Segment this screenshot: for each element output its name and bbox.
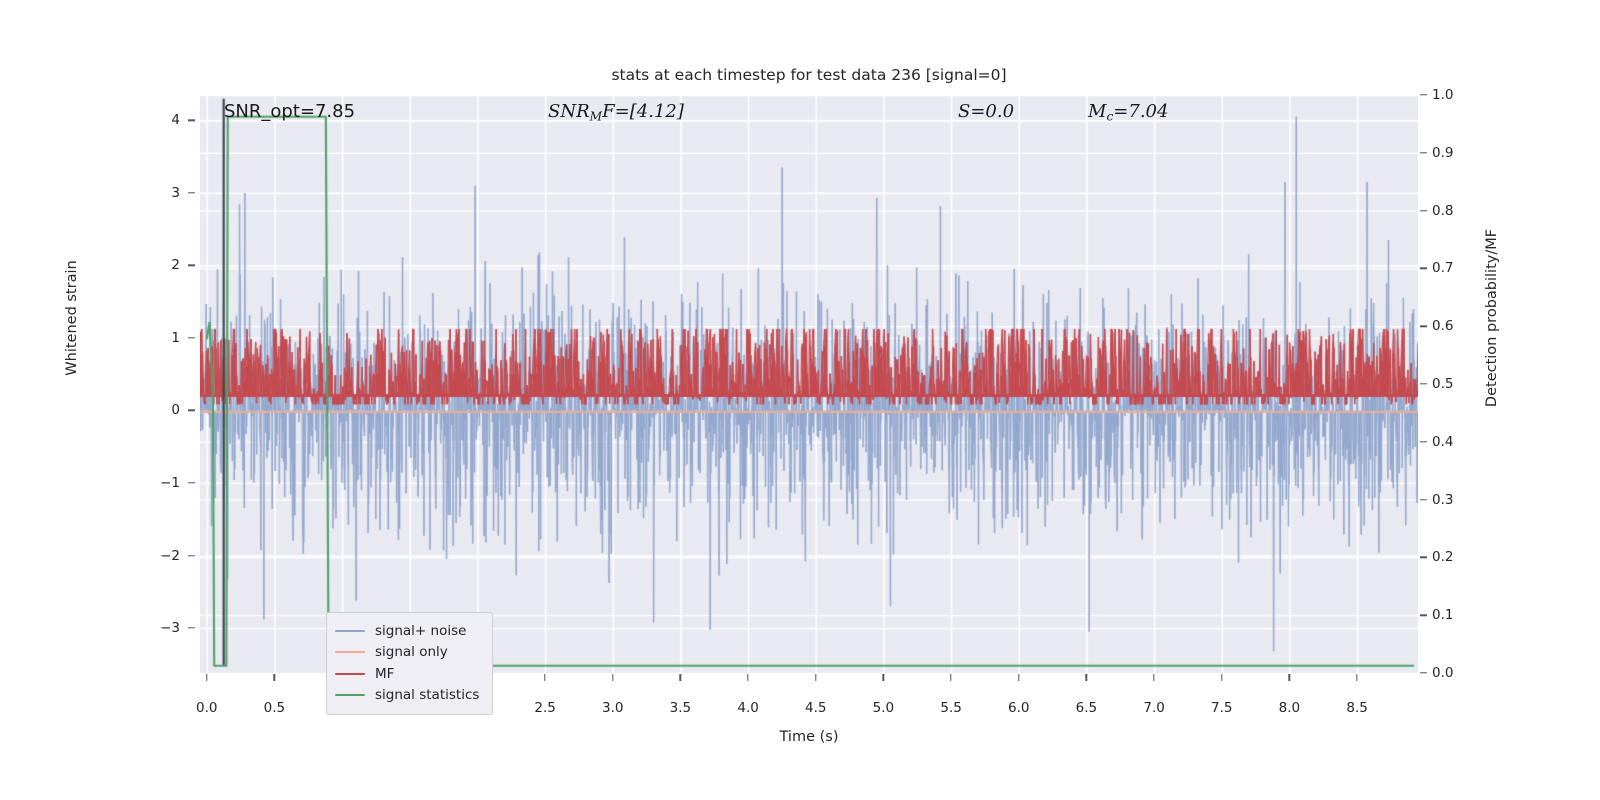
x-tick-mark (1086, 674, 1087, 681)
x-tick-mark (1018, 674, 1019, 681)
y-tick-mark-left (188, 337, 195, 338)
y-tick-label-right: 0.3 (1432, 492, 1482, 508)
y-tick-label-left: 1 (130, 330, 180, 346)
y-tick-mark-right (1420, 94, 1427, 95)
x-tick-label: 0.5 (264, 700, 285, 716)
x-tick-label: 4.5 (805, 700, 826, 716)
figure-canvas: stats at each timestep for test data 236… (0, 0, 1600, 800)
y-tick-label-right: 0.8 (1432, 203, 1482, 219)
x-tick-mark (274, 674, 275, 681)
y-tick-label-right: 0.1 (1432, 607, 1482, 623)
x-tick-label: 7.0 (1143, 700, 1164, 716)
chart-plot-canvas[interactable] (200, 95, 1418, 673)
x-tick-label: 4.0 (737, 700, 758, 716)
y-tick-mark-right (1420, 268, 1427, 269)
y-tick-mark-right (1420, 614, 1427, 615)
y-tick-label-left: −3 (130, 620, 180, 636)
y-axis-label-right: Detection probability/MF (1484, 218, 1500, 418)
y-tick-mark-right (1420, 499, 1427, 500)
legend-item-2[interactable]: MF (335, 663, 482, 685)
y-tick-label-right: 0.7 (1432, 260, 1482, 276)
chart-legend[interactable]: signal+ noisesignal onlyMFsignal statist… (326, 612, 493, 715)
x-tick-label: 8.0 (1279, 700, 1300, 716)
legend-item-1[interactable]: signal only (335, 642, 482, 664)
x-tick-label: 6.0 (1008, 700, 1029, 716)
x-tick-mark (1153, 674, 1154, 681)
legend-label: MF (375, 666, 394, 682)
x-tick-mark (950, 674, 951, 681)
x-tick-mark (206, 674, 207, 681)
annotation-mchirp: Mc=7.04 (1088, 101, 1168, 123)
x-tick-mark (1356, 674, 1357, 681)
y-tick-mark-left (188, 482, 195, 483)
legend-item-3[interactable]: signal statistics (335, 685, 482, 707)
y-tick-label-right: 0.4 (1432, 434, 1482, 450)
x-tick-mark (612, 674, 613, 681)
x-tick-label: 5.5 (940, 700, 961, 716)
annotation-s-value: S=0.0 (958, 101, 1014, 122)
x-tick-label: 7.5 (1211, 700, 1232, 716)
y-tick-label-right: 0.6 (1432, 318, 1482, 334)
y-tick-mark-left (188, 627, 195, 628)
y-tick-label-left: 0 (130, 402, 180, 418)
y-tick-label-left: 4 (130, 112, 180, 128)
x-tick-mark (815, 674, 816, 681)
x-tick-label: 3.0 (602, 700, 623, 716)
y-tick-mark-left (188, 410, 195, 411)
legend-item-0[interactable]: signal+ noise (335, 620, 482, 642)
y-tick-mark-left (188, 192, 195, 193)
y-tick-label-left: −1 (130, 475, 180, 491)
x-tick-mark (1221, 674, 1222, 681)
annotation-snr-mf: SNRMF=[4.12] (548, 101, 684, 123)
x-tick-label: 8.5 (1346, 700, 1367, 716)
y-tick-mark-right (1420, 325, 1427, 326)
page-title: stats at each timestep for test data 236… (200, 66, 1418, 84)
x-tick-mark (680, 674, 681, 681)
y-tick-mark-right (1420, 383, 1427, 384)
y-tick-mark-right (1420, 441, 1427, 442)
x-tick-label: 3.5 (670, 700, 691, 716)
legend-swatch-icon (335, 630, 365, 632)
y-tick-mark-right (1420, 210, 1427, 211)
x-tick-label: 5.0 (873, 700, 894, 716)
x-tick-mark (1289, 674, 1290, 681)
y-tick-label-right: 1.0 (1432, 87, 1482, 103)
y-tick-label-right: 0.5 (1432, 376, 1482, 392)
x-tick-mark (747, 674, 748, 681)
legend-swatch-icon (335, 694, 365, 696)
y-tick-label-right: 0.0 (1432, 665, 1482, 681)
x-tick-label: 2.5 (534, 700, 555, 716)
legend-label: signal+ noise (375, 623, 466, 639)
y-tick-mark-right (1420, 672, 1427, 673)
annotation-snr-opt: SNR_opt=7.85 (224, 101, 355, 122)
y-tick-mark-left (188, 265, 195, 266)
y-tick-mark-right (1420, 152, 1427, 153)
y-tick-label-left: 3 (130, 185, 180, 201)
x-tick-label: 0.0 (196, 700, 217, 716)
legend-label: signal only (375, 644, 448, 660)
x-tick-mark (544, 674, 545, 681)
legend-label: signal statistics (375, 687, 479, 703)
legend-swatch-icon (335, 673, 365, 675)
y-tick-label-right: 0.9 (1432, 145, 1482, 161)
y-tick-label-right: 0.2 (1432, 549, 1482, 565)
y-tick-mark-left (188, 555, 195, 556)
legend-swatch-icon (335, 651, 365, 653)
plot-axes-area[interactable] (200, 95, 1418, 673)
x-tick-label: 6.5 (1076, 700, 1097, 716)
y-tick-mark-right (1420, 557, 1427, 558)
y-tick-label-left: 2 (130, 257, 180, 273)
y-tick-mark-left (188, 120, 195, 121)
x-axis-label: Time (s) (200, 729, 1418, 745)
y-tick-label-left: −2 (130, 548, 180, 564)
x-tick-mark (883, 674, 884, 681)
y-axis-label-left: Whitened strain (64, 218, 80, 418)
